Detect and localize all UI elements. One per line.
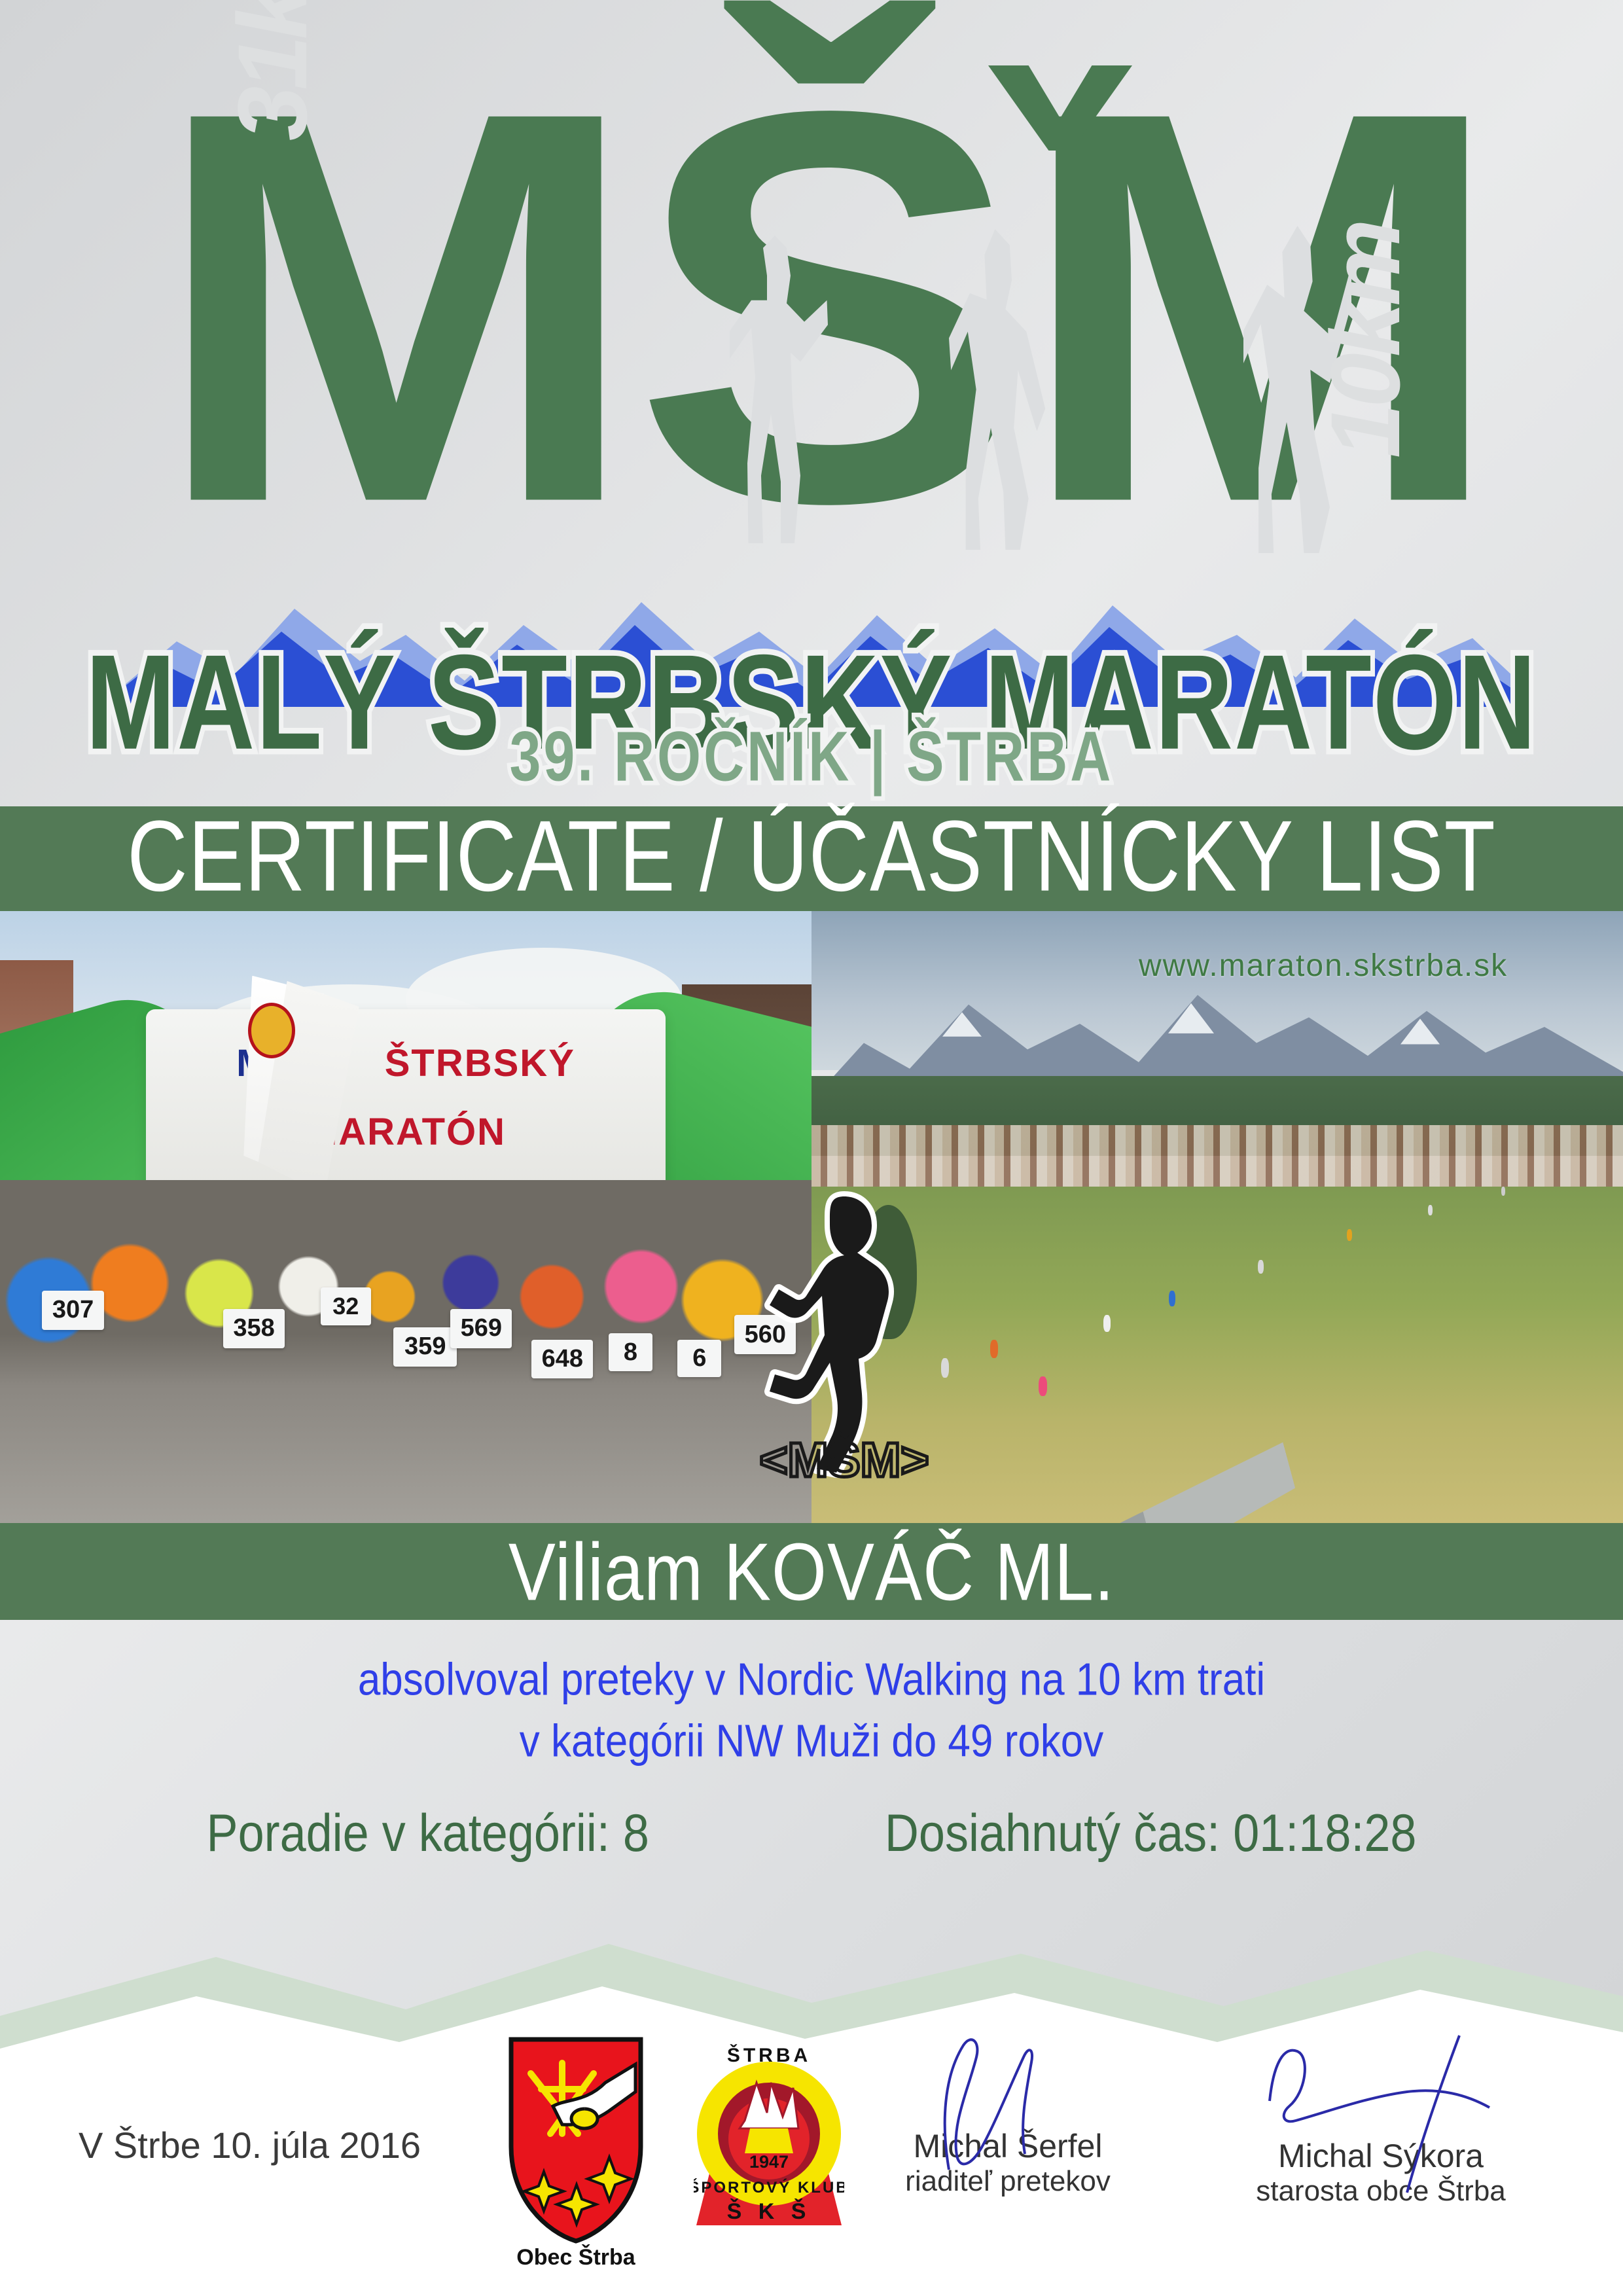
arch-banner-line2: MARATÓN [146,1110,666,1154]
distant-runner [1501,1187,1505,1196]
distant-runner [1347,1229,1352,1241]
runner-bib: 359 [393,1327,457,1367]
logo-header: MŠM 31km 10km MALÝ ŠTRBSKÝ MARATÓN 39. R… [0,0,1623,795]
runner-bib: 569 [450,1309,512,1348]
finish-time: Dosiahnutý čas: 01:18:28 [885,1803,1417,1863]
participant-name: Viliam KOVÁČ ML. [0,1516,1623,1629]
signature-1-ink [903,2026,1099,2176]
msm-runner-cutout-icon: <MŠM> [746,1191,942,1492]
distant-runner [1428,1205,1433,1215]
category-rank: Poradie v kategórii: 8 [207,1803,649,1863]
arch-banner-line1: MALÝ ŠTRBSKÝ [146,1041,666,1085]
certificate-title: CERTIFICATE / ÚČASTNÍCKY LIST [0,791,1623,922]
club-bottom-text: Š K Š [727,2198,811,2224]
municipality-label: Obec Štrba [494,2245,658,2270]
flag-badge-icon [248,1003,295,1058]
signature-2-ink [1243,2029,1505,2199]
results-row: Poradie v kategórii: 8 Dosiahnutý čas: 0… [0,1803,1623,1863]
distant-runner [1039,1376,1047,1396]
certificate-page: MŠM 31km 10km MALÝ ŠTRBSKÝ MARATÓN 39. R… [0,0,1623,2296]
issue-date: V Štrbe 10. júla 2016 [79,2124,421,2166]
runner-bib: 8 [609,1333,652,1371]
msm-cutout-label: <MŠM> [759,1433,929,1487]
distance-left-label: 31km [216,0,329,141]
description-line-1: absolvoval preteky v Nordic Walking na 1… [0,1649,1623,1711]
distant-runner [1169,1291,1175,1306]
runner-bib: 32 [321,1287,371,1325]
club-arc-text: ŠPORTOVÝ KLUB [694,2178,844,2197]
runner-bib: 648 [531,1340,593,1379]
msm-logotype: MŠM [249,39,1400,576]
start-line-photo: MALÝ ŠTRBSKÝ MARATÓN ŠTART - CIEĽ 307 35… [0,911,811,1523]
arch-word-strbsky: ŠTRBSKÝ [385,1042,575,1085]
participant-name-band: Viliam KOVÁČ ML. [0,1523,1623,1620]
obec-strba-crest-icon [507,2036,645,2245]
event-subtitle: 39. ROČNÍK | ŠTRBA [0,717,1623,798]
runner-bib: 6 [677,1340,721,1378]
distant-runner [1258,1260,1264,1274]
distant-runner [941,1358,949,1378]
runner-bib: 358 [223,1309,285,1348]
village-band [811,1125,1623,1193]
certificate-title-band: CERTIFICATE / ÚČASTNÍCKY LIST [0,806,1623,911]
club-top-text: ŠTRBA [727,2044,811,2066]
website-url[interactable]: www.maraton.skstrba.sk [1139,948,1508,984]
distant-runner [990,1340,998,1358]
runner-bib: 307 [42,1291,103,1330]
participation-description: absolvoval preteky v Nordic Walking na 1… [0,1649,1623,1772]
sks-club-logo-icon: ŠTRBA 1947 ŠPORTOVÝ KLUB Š K Š [694,2036,844,2232]
distant-runner [1103,1315,1111,1332]
distance-right-label: 10km [1309,223,1422,458]
club-year: 1947 [749,2152,789,2172]
description-line-2: v kategórii NW Muži do 49 rokov [0,1711,1623,1772]
